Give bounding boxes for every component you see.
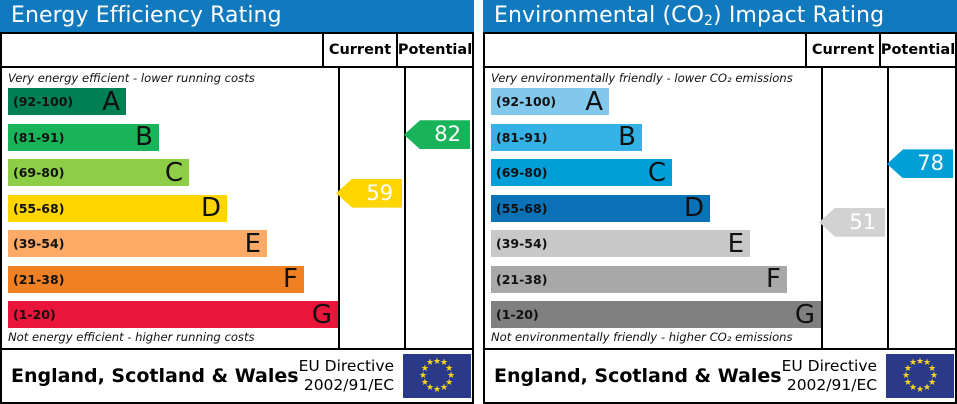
footer-directive-line2: 2002/91/EC	[782, 376, 878, 395]
band-letter: G	[795, 302, 815, 328]
band-letter: A	[585, 89, 603, 115]
band-letter: E	[245, 231, 261, 257]
band-letter: D	[201, 195, 221, 221]
energy-header-potential: Potential	[398, 34, 472, 66]
band-letter: F	[766, 266, 781, 292]
chart-title-energy-text: Energy Efficiency Rating	[11, 3, 282, 28]
environmental-impact-rating-chart: Environmental (CO2) Impact Rating Curren…	[483, 0, 957, 404]
footer-directive-line2: 2002/91/EC	[299, 376, 395, 395]
band-row: (69-80) C	[491, 159, 672, 186]
band-row: (81-91) B	[491, 124, 642, 151]
chart-title-environmental: Environmental (CO2) Impact Rating	[483, 0, 957, 32]
band-row: (1-20) G	[491, 301, 821, 328]
band-letter: D	[684, 195, 704, 221]
band-row: (81-91) B	[8, 124, 159, 151]
band-range: (92-100)	[496, 94, 556, 109]
chart-title-subscript: 2	[704, 13, 713, 29]
band-range: (69-80)	[496, 165, 547, 180]
epc-charts-page: Energy Efficiency Rating Current Potenti…	[0, 0, 957, 404]
energy-caption-bottom: Not energy efficient - higher running co…	[2, 328, 338, 348]
band-letter: C	[648, 160, 666, 186]
band-range: (81-91)	[496, 130, 547, 145]
band-letter: E	[728, 231, 744, 257]
energy-chart-body: Current Potential Very energy efficient …	[0, 32, 474, 404]
environmental-caption-top: Very environmentally friendly - lower CO…	[485, 68, 821, 88]
environmental-header-potential: Potential	[881, 34, 955, 66]
energy-caption-top: Very energy efficient - lower running co…	[2, 68, 338, 88]
energy-column-header-row: Current Potential	[2, 34, 472, 68]
chart-title-environmental-text: Environmental (CO	[494, 3, 704, 28]
band-letter: B	[618, 124, 636, 150]
chart-title-energy: Energy Efficiency Rating	[0, 0, 474, 32]
eu-flag-icon: ★★★★★★★★★★★★	[886, 354, 954, 398]
footer-directive-label: EU Directive 2002/91/EC	[782, 357, 887, 395]
environmental-caption-bottom: Not environmentally friendly - higher CO…	[485, 328, 821, 348]
footer-directive-line1: EU Directive	[782, 357, 878, 376]
energy-chart-row: Very energy efficient - lower running co…	[2, 68, 472, 350]
energy-bands-column: Very energy efficient - lower running co…	[2, 68, 340, 348]
band-row: (55-68) D	[8, 195, 227, 222]
environmental-header-blank-cell	[485, 34, 807, 66]
band-row: (92-100) A	[8, 88, 126, 115]
band-range: (21-38)	[13, 272, 64, 287]
eu-flag-icon: ★★★★★★★★★★★★	[403, 354, 471, 398]
band-letter: G	[312, 302, 332, 328]
band-range: (1-20)	[496, 307, 539, 322]
band-letter: C	[165, 160, 183, 186]
environmental-chart-body: Current Potential Very environmentally f…	[483, 32, 957, 404]
band-letter: B	[135, 124, 153, 150]
environmental-potential-column: 78	[889, 68, 955, 348]
energy-header-current: Current	[324, 34, 398, 66]
footer-directive-label: EU Directive 2002/91/EC	[299, 357, 404, 395]
energy-current-column: 59	[340, 68, 406, 348]
band-letter: A	[102, 89, 120, 115]
environmental-chart-row: Very environmentally friendly - lower CO…	[485, 68, 955, 350]
band-range: (21-38)	[496, 272, 547, 287]
eu-star-icon: ★	[426, 359, 435, 368]
energy-potential-column: 82	[406, 68, 472, 348]
band-range: (1-20)	[13, 307, 56, 322]
energy-header-blank-cell	[2, 34, 324, 66]
band-range: (39-54)	[496, 236, 547, 251]
band-row: (21-38) F	[8, 266, 304, 293]
band-row: (39-54) E	[491, 230, 750, 257]
energy-current-rating-arrow: 59	[336, 179, 402, 208]
band-row: (69-80) C	[8, 159, 189, 186]
band-range: (55-68)	[496, 201, 547, 216]
energy-efficiency-rating-chart: Energy Efficiency Rating Current Potenti…	[0, 0, 474, 404]
band-row: (1-20) G	[8, 301, 338, 328]
band-range: (39-54)	[13, 236, 64, 251]
environmental-header-current: Current	[807, 34, 881, 66]
environmental-band-list: (92-100) A (81-91) B (69-80) C (55-68)	[485, 88, 821, 328]
footer-directive-line1: EU Directive	[299, 357, 395, 376]
band-range: (55-68)	[13, 201, 64, 216]
band-row: (92-100) A	[491, 88, 609, 115]
environmental-column-header-row: Current Potential	[485, 34, 955, 68]
footer-region-label: England, Scotland & Wales	[494, 365, 782, 387]
environmental-potential-rating-arrow: 78	[887, 149, 953, 178]
band-row: (21-38) F	[491, 266, 787, 293]
environmental-current-rating-arrow: 51	[819, 208, 885, 237]
band-range: (69-80)	[13, 165, 64, 180]
band-row: (39-54) E	[8, 230, 267, 257]
energy-potential-rating-arrow: 82	[404, 120, 470, 149]
energy-band-list: (92-100) A (81-91) B (69-80) C (55-68)	[2, 88, 338, 328]
environmental-current-column: 51	[823, 68, 889, 348]
environmental-footer: England, Scotland & Wales EU Directive 2…	[485, 350, 955, 402]
energy-footer: England, Scotland & Wales EU Directive 2…	[2, 350, 472, 402]
band-row: (55-68) D	[491, 195, 710, 222]
band-range: (92-100)	[13, 94, 73, 109]
chart-title-environmental-tail: ) Impact Rating	[713, 3, 884, 28]
band-range: (81-91)	[13, 130, 64, 145]
band-letter: F	[283, 266, 298, 292]
footer-region-label: England, Scotland & Wales	[11, 365, 299, 387]
eu-star-icon: ★	[909, 359, 918, 368]
environmental-bands-column: Very environmentally friendly - lower CO…	[485, 68, 823, 348]
